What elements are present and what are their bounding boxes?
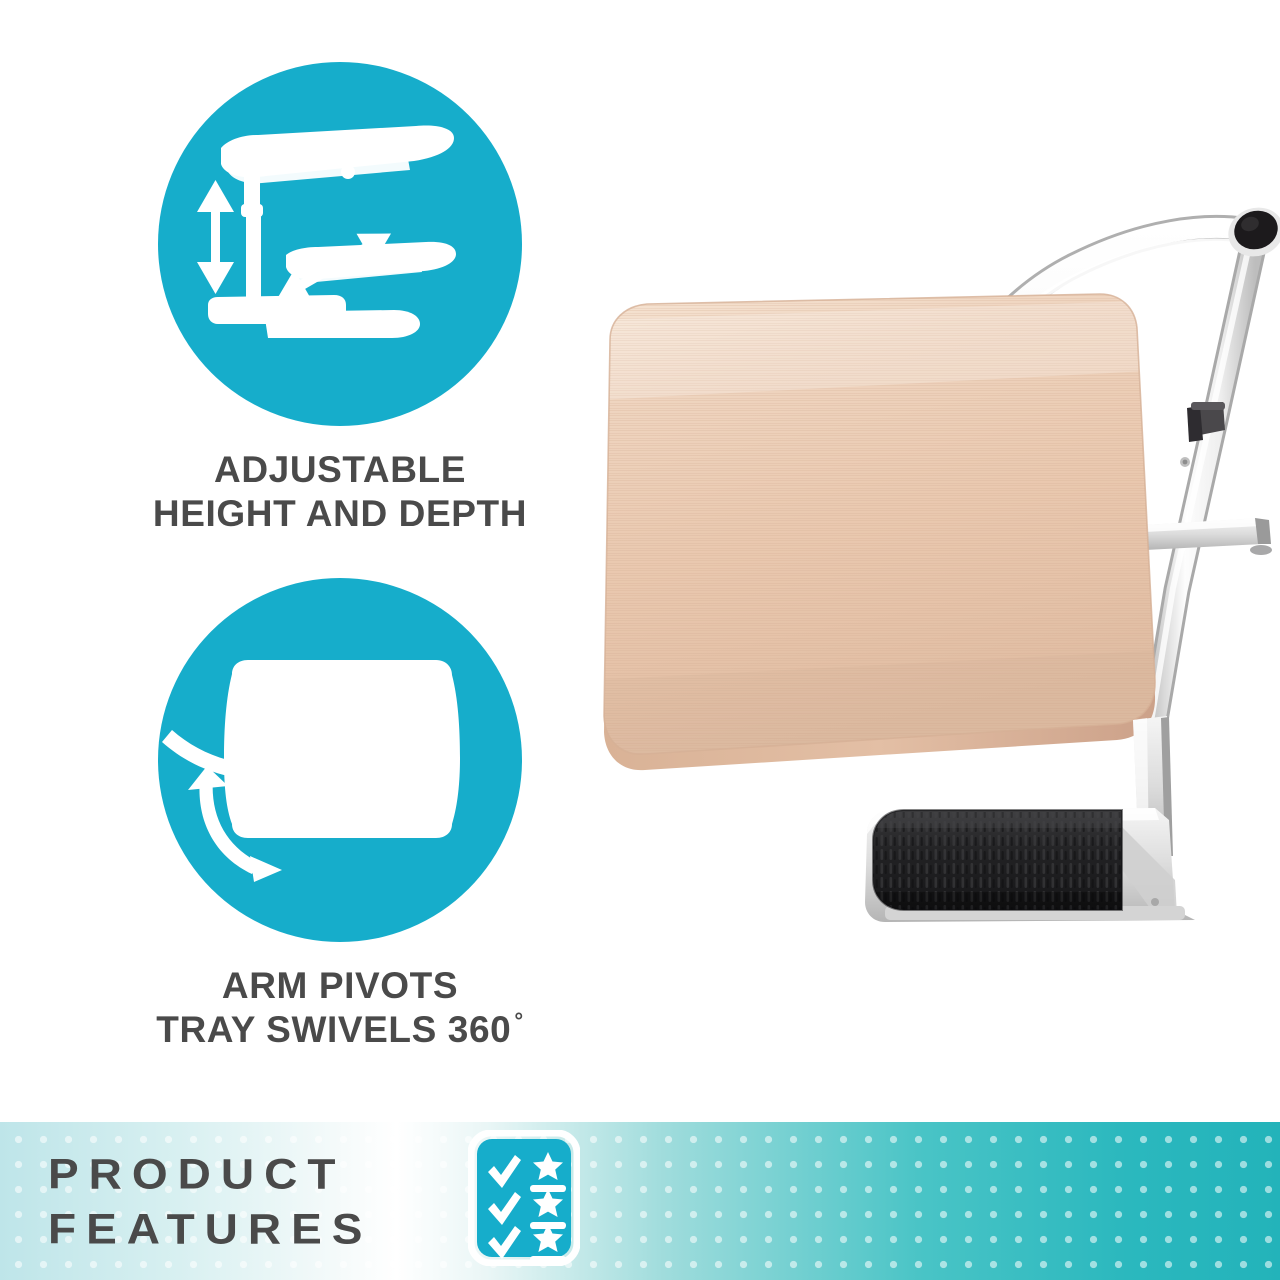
adjustable-height-depth-icon: [158, 62, 522, 426]
frame-post: [1152, 238, 1255, 720]
feature-caption: ARM PIVOTS TRAY SWIVELS 360°: [40, 964, 640, 1053]
feature-caption-text: TRAY SWIVELS 360: [156, 1009, 511, 1050]
feature-icon-circle: [158, 62, 522, 426]
feature-caption-line-2: HEIGHT AND DEPTH: [40, 492, 640, 536]
degree-symbol: °: [514, 1008, 523, 1033]
feature-caption-line-1: ADJUSTABLE: [40, 448, 640, 492]
banner-title-line-2: FEATURES: [48, 1202, 373, 1257]
overbed-table-photo: [555, 120, 1280, 1000]
product-features-banner: PRODUCT FEATURES: [0, 1122, 1280, 1280]
feature-caption: ADJUSTABLE HEIGHT AND DEPTH: [40, 448, 640, 537]
arm-pivots-swivel-icon: [158, 578, 522, 942]
feature-block-swivel: ARM PIVOTS TRAY SWIVELS 360°: [40, 578, 640, 1053]
rubber-foot-pad: [873, 810, 1129, 910]
banner-title: PRODUCT FEATURES: [48, 1147, 373, 1257]
feature-icon-circle: [158, 578, 522, 942]
feature-caption-line-2: TRAY SWIVELS 360°: [40, 1008, 640, 1052]
infographic-canvas: ADJUSTABLE HEIGHT AND DEPTH: [0, 0, 1280, 1280]
feature-caption-line-1: ARM PIVOTS: [40, 964, 640, 1008]
frame-support-arm: [1145, 518, 1272, 555]
banner-title-line-1: PRODUCT: [48, 1147, 373, 1202]
tube-end-cap: [1222, 201, 1280, 264]
checklist-icon-svg: [468, 1130, 580, 1266]
product-illustration: [555, 120, 1280, 1000]
feature-block-adjustable: ADJUSTABLE HEIGHT AND DEPTH: [40, 62, 640, 537]
checklist-badge-icon: [468, 1130, 580, 1266]
